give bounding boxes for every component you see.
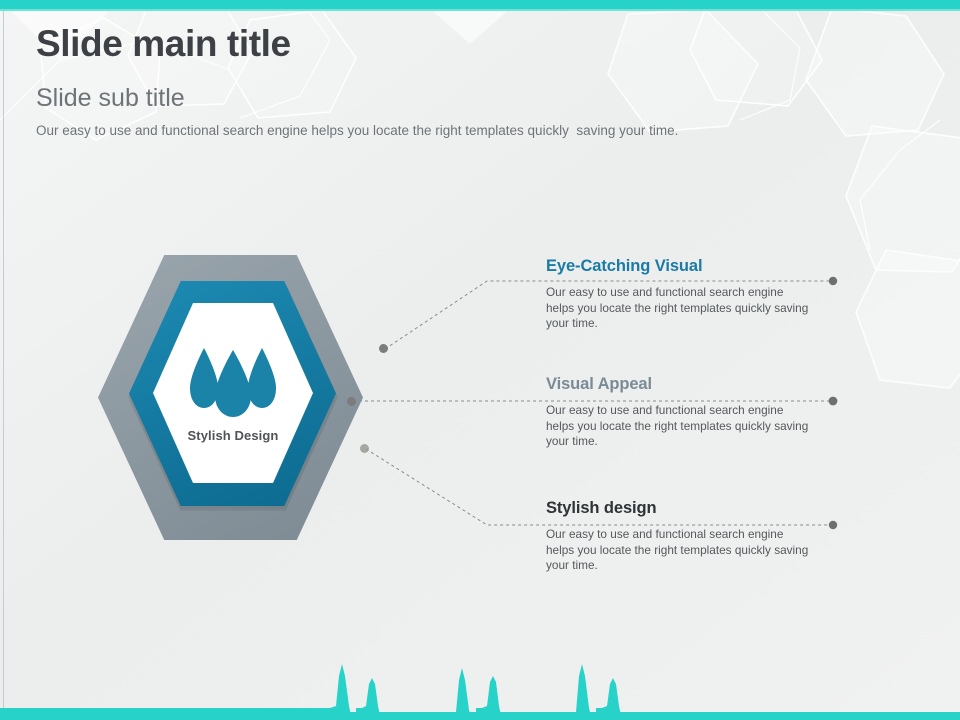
hexagon-logo-group: Stylish Design xyxy=(153,303,313,483)
slide-header: Slide main title Slide sub title Our eas… xyxy=(36,22,896,140)
page-subtitle: Slide sub title xyxy=(36,83,896,113)
stylish-design-hexagon: Stylish Design xyxy=(98,255,388,545)
left-edge-rule xyxy=(3,11,4,711)
hexagon-connector-dot-2[interactable] xyxy=(347,397,356,406)
page-title: Slide main title xyxy=(36,22,896,66)
slide-canvas: Slide main title Slide sub title Our eas… xyxy=(0,0,960,720)
hexagon-connector-dot-1[interactable] xyxy=(379,344,388,353)
feature-body-3: Our easy to use and functional search en… xyxy=(546,527,814,574)
feature-block-1: Eye-Catching Visual Our easy to use and … xyxy=(546,256,846,332)
feature-title-2: Visual Appeal xyxy=(546,374,846,394)
lead-paragraph: Our easy to use and functional search en… xyxy=(36,122,896,140)
feature-title-1: Eye-Catching Visual xyxy=(546,256,846,276)
feature-body-1: Our easy to use and functional search en… xyxy=(546,285,814,332)
top-accent-hairline xyxy=(0,9,960,11)
feature-block-2: Visual Appeal Our easy to use and functi… xyxy=(546,374,846,450)
feature-title-3: Stylish design xyxy=(546,498,846,518)
hexagon-connector-dot-3[interactable] xyxy=(360,444,369,453)
heartbeat-pulse-wave xyxy=(0,658,960,720)
feature-body-2: Our easy to use and functional search en… xyxy=(546,403,814,450)
hexagon-caption: Stylish Design xyxy=(188,428,279,443)
top-accent-bar xyxy=(0,0,960,9)
feature-block-3: Stylish design Our easy to use and funct… xyxy=(546,498,846,574)
three-water-drops-icon xyxy=(178,344,288,422)
